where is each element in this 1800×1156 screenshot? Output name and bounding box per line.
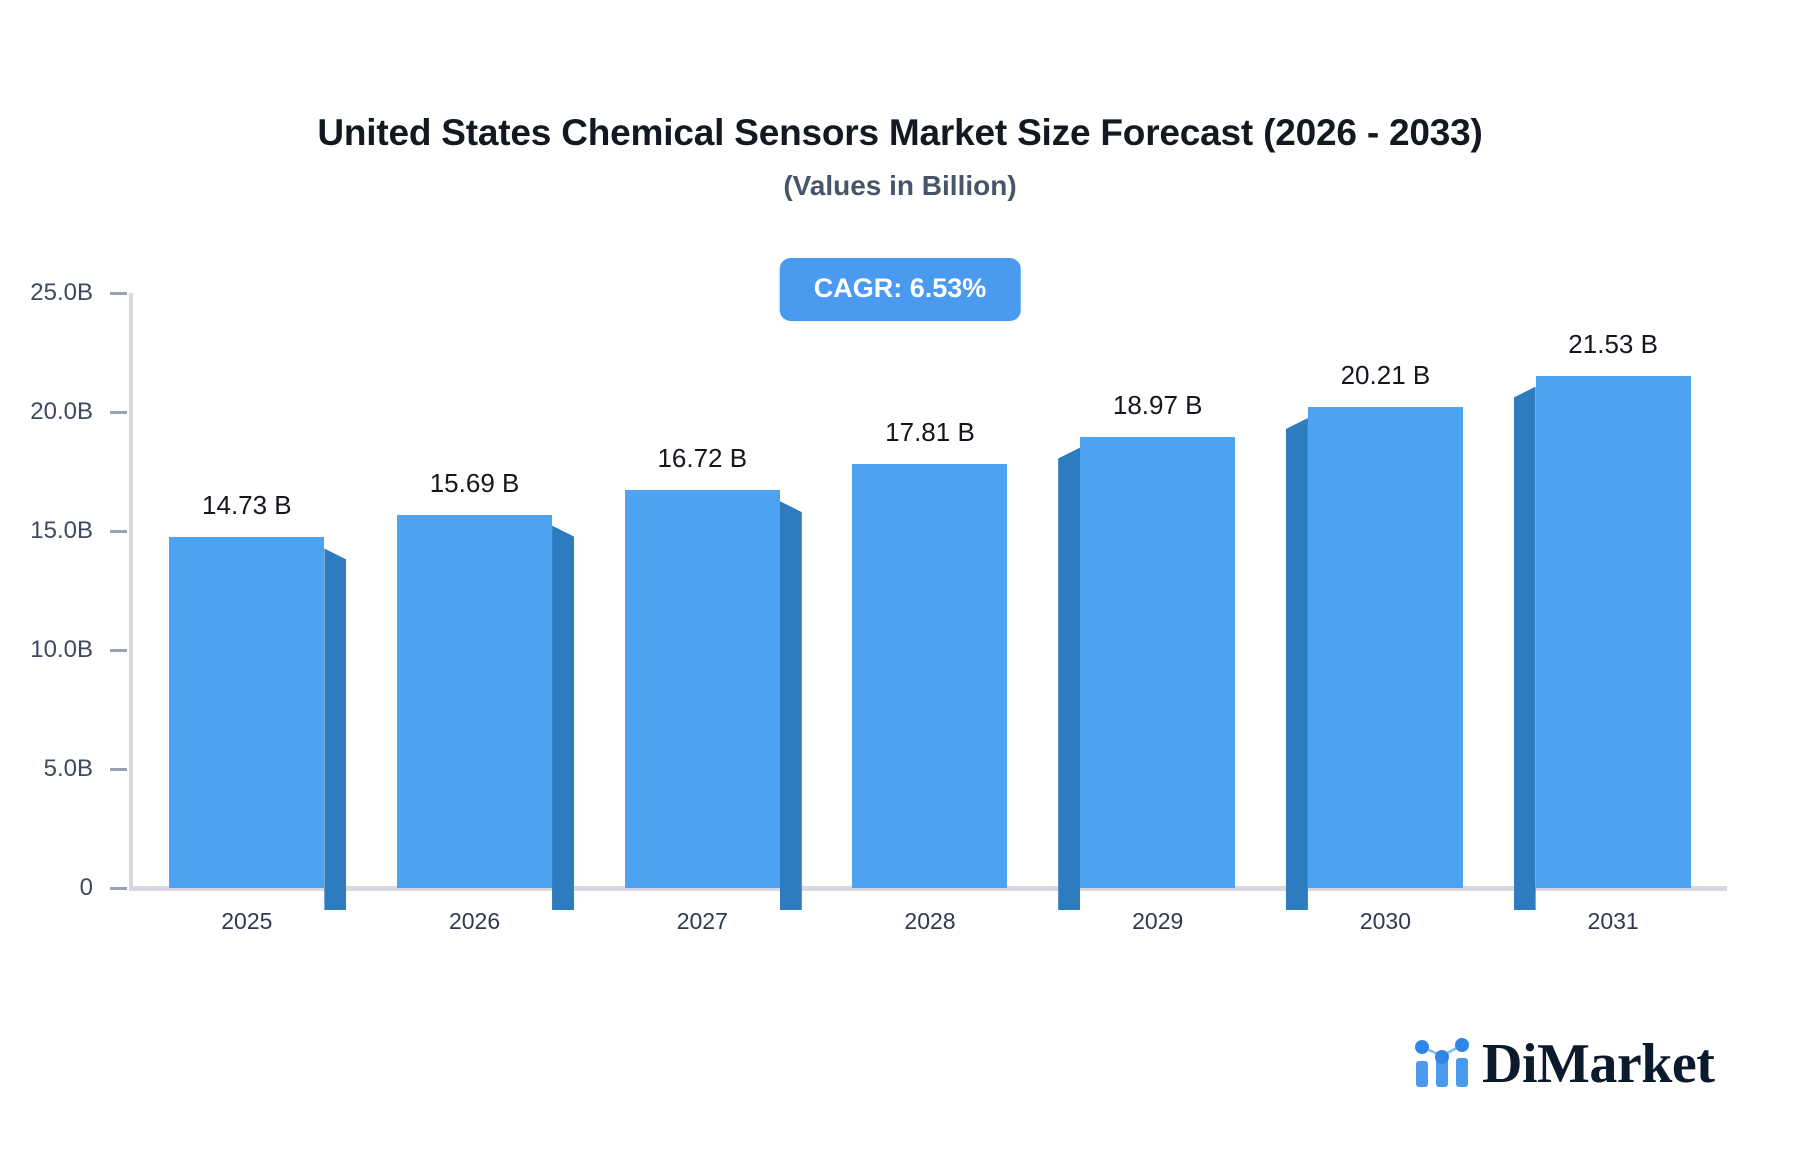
bar-column[interactable]: 18.97 B [1044, 293, 1272, 888]
y-axis-tick-label: 0 [80, 874, 93, 902]
chart-subtitle: (Values in Billion) [0, 170, 1800, 202]
bar-2030[interactable]: 20.21 B [1308, 407, 1463, 888]
bar-value-label: 14.73 B [202, 490, 292, 521]
bar-chart-icon [1413, 1034, 1471, 1093]
bar-front-face [397, 515, 552, 888]
bar-value-label: 18.97 B [1113, 390, 1203, 421]
brand-name: DiMarket [1482, 1036, 1714, 1092]
bar-side-face [552, 526, 574, 910]
bar-side-face [1058, 448, 1080, 910]
y-axis-tick: 15.0B [0, 517, 133, 545]
bar-value-label: 20.21 B [1341, 360, 1431, 391]
plot-area: 05.0B10.0B15.0B20.0B25.0B 14.73 B15.69 B… [133, 293, 1727, 888]
chart-figure: United States Chemical Sensors Market Si… [0, 0, 1800, 1156]
x-axis-tick-label: 2025 [221, 908, 272, 935]
y-axis-tick-label: 15.0B [30, 517, 93, 545]
y-axis-tick: 0 [0, 874, 133, 902]
y-axis-tick-mark [110, 887, 127, 890]
brand-logo: DiMarket [1413, 1034, 1714, 1093]
x-axis-tick-label: 2029 [1132, 908, 1183, 935]
bar-side-face [1514, 387, 1536, 910]
bar-side-face [780, 501, 802, 910]
bar-2027[interactable]: 16.72 B [625, 490, 780, 888]
y-axis-tick: 25.0B [0, 279, 133, 307]
y-axis-tick: 5.0B [0, 755, 133, 783]
bar-value-label: 17.81 B [885, 417, 975, 448]
bar-2025[interactable]: 14.73 B [169, 537, 324, 888]
y-axis-tick: 20.0B [0, 398, 133, 426]
x-axis-tick-label: 2028 [904, 908, 955, 935]
y-axis-tick-mark [110, 292, 127, 295]
bar-column[interactable]: 16.72 B [588, 293, 816, 888]
y-axis-tick-mark [110, 649, 127, 652]
bar-value-label: 16.72 B [657, 443, 747, 474]
y-axis-tick: 10.0B [0, 636, 133, 664]
bar-front-face [1308, 407, 1463, 888]
x-axis-tick-label: 2027 [677, 908, 728, 935]
bar-2028[interactable]: 17.81 B [852, 464, 1007, 888]
cagr-badge: CAGR: 6.53% [780, 258, 1021, 321]
y-axis-tick-mark [110, 530, 127, 533]
bar-side-face [1286, 418, 1308, 910]
x-axis-tick-label: 2031 [1588, 908, 1639, 935]
y-axis-tick-mark [110, 411, 127, 414]
y-axis-tick-mark [110, 768, 127, 771]
bar-column[interactable]: 21.53 B [1499, 293, 1727, 888]
bar-value-label: 21.53 B [1568, 329, 1658, 360]
bar-column[interactable]: 14.73 B [133, 293, 361, 888]
x-axis-tick-label: 2026 [449, 908, 500, 935]
bar-column[interactable]: 17.81 B [816, 293, 1044, 888]
x-axis-tick-label: 2030 [1360, 908, 1411, 935]
bar-column[interactable]: 15.69 B [361, 293, 589, 888]
y-axis-tick-label: 5.0B [44, 755, 93, 783]
bar-front-face [169, 537, 324, 888]
y-axis-tick-label: 20.0B [30, 398, 93, 426]
bar-value-label: 15.69 B [430, 468, 520, 499]
bar-column[interactable]: 20.21 B [1272, 293, 1500, 888]
bar-2031[interactable]: 21.53 B [1536, 376, 1691, 888]
bar-2026[interactable]: 15.69 B [397, 515, 552, 888]
bar-front-face [1080, 437, 1235, 888]
y-axis-tick-label: 25.0B [30, 279, 93, 307]
bar-front-face [852, 464, 1007, 888]
page-title: United States Chemical Sensors Market Si… [0, 112, 1800, 154]
y-axis-tick-label: 10.0B [30, 636, 93, 664]
bar-front-face [1536, 376, 1691, 888]
bar-front-face [625, 490, 780, 888]
bar-side-face [324, 548, 346, 910]
bar-2029[interactable]: 18.97 B [1080, 437, 1235, 888]
